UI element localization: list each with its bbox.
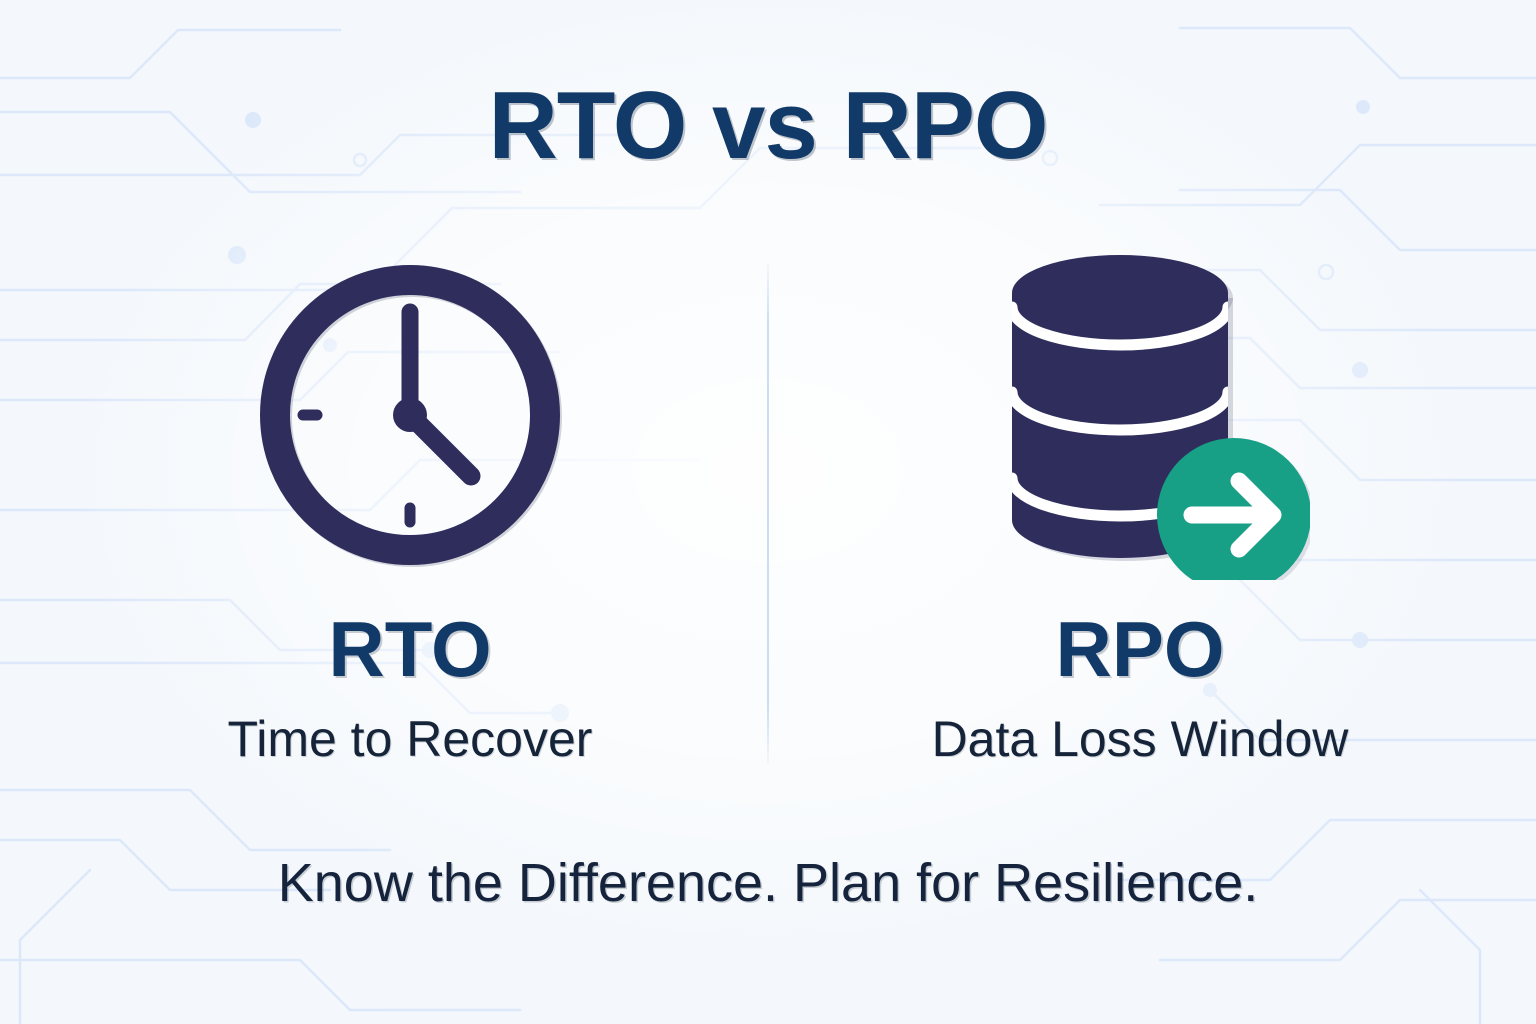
footer-tagline: Know the Difference. Plan for Resilience… xyxy=(0,854,1536,913)
rto-icon-wrap xyxy=(60,250,760,580)
panel-divider xyxy=(767,264,769,764)
rpo-subtitle: Data Loss Window xyxy=(790,712,1490,767)
rto-subtitle: Time to Recover xyxy=(60,712,760,767)
page-title: RTO vs RPO xyxy=(0,76,1536,177)
panel-rto: RTO Time to Recover xyxy=(60,250,760,810)
panel-rpo: RPO Data Loss Window xyxy=(790,250,1490,810)
clock-icon xyxy=(245,250,575,580)
database-icon xyxy=(970,250,1310,580)
rto-title: RTO xyxy=(60,610,760,688)
infographic-canvas: RTO vs RPO xyxy=(0,0,1536,1024)
rpo-icon-wrap xyxy=(790,250,1490,580)
rpo-title: RPO xyxy=(790,610,1490,688)
